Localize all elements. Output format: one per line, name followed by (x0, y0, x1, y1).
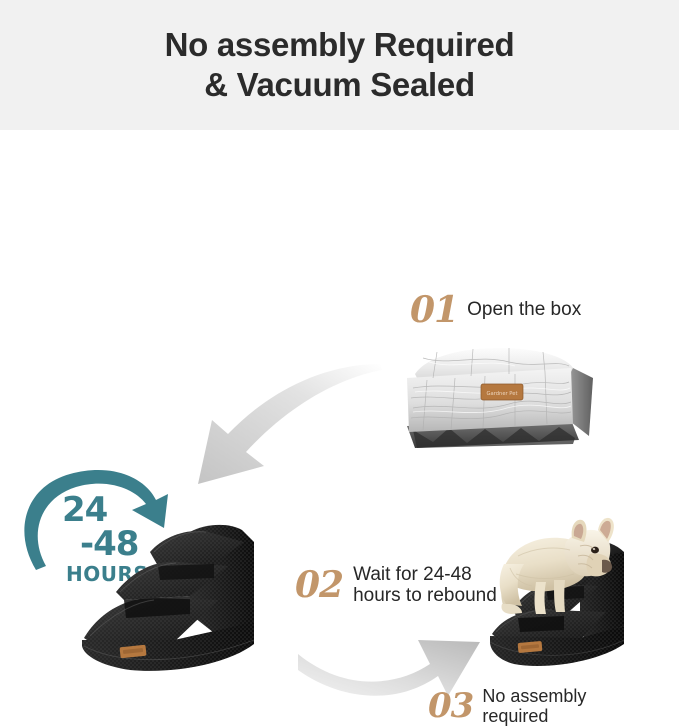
page-title-line-2: & Vacuum Sealed (204, 65, 475, 105)
product-brand-tag-right (518, 641, 543, 653)
french-bulldog (492, 512, 617, 632)
step-02-number: 02 (295, 567, 343, 603)
pet-stairs-left (78, 518, 293, 683)
step-03-caption: 03 No assembly required (428, 686, 586, 726)
step-02-text: Wait for 24-48 hours to rebound (353, 564, 497, 607)
arrow-box-to-stairs-icon (168, 366, 383, 491)
step-03-number: 03 (428, 689, 473, 723)
step-01-number: 01 (410, 292, 458, 328)
step-03-text: No assembly required (482, 686, 586, 726)
step-01-caption: 01 Open the box (410, 292, 581, 328)
vacuum-sealed-package: Gardner Pet (393, 344, 598, 462)
step-02-text-line-2: hours to rebound (353, 585, 497, 606)
header-band: No assembly Required & Vacuum Sealed (0, 0, 679, 130)
package-brand-label: Gardner Pet (481, 384, 523, 400)
step-02-text-line-1: Wait for 24-48 (353, 564, 497, 585)
step-01-text: Open the box (467, 299, 581, 320)
package-brand-label-text: Gardner Pet (487, 391, 518, 397)
infographic-stage: Gardner Pet 01 Open the box 24 -48 HOURS (0, 130, 679, 599)
step-03-text-line-2: required (482, 706, 586, 726)
page-title-line-1: No assembly Required (165, 25, 515, 65)
step-01-text-line-1: Open the box (467, 299, 581, 320)
step-03-text-line-1: No assembly (482, 686, 586, 706)
step-02-caption: 02 Wait for 24-48 hours to rebound (295, 564, 497, 607)
